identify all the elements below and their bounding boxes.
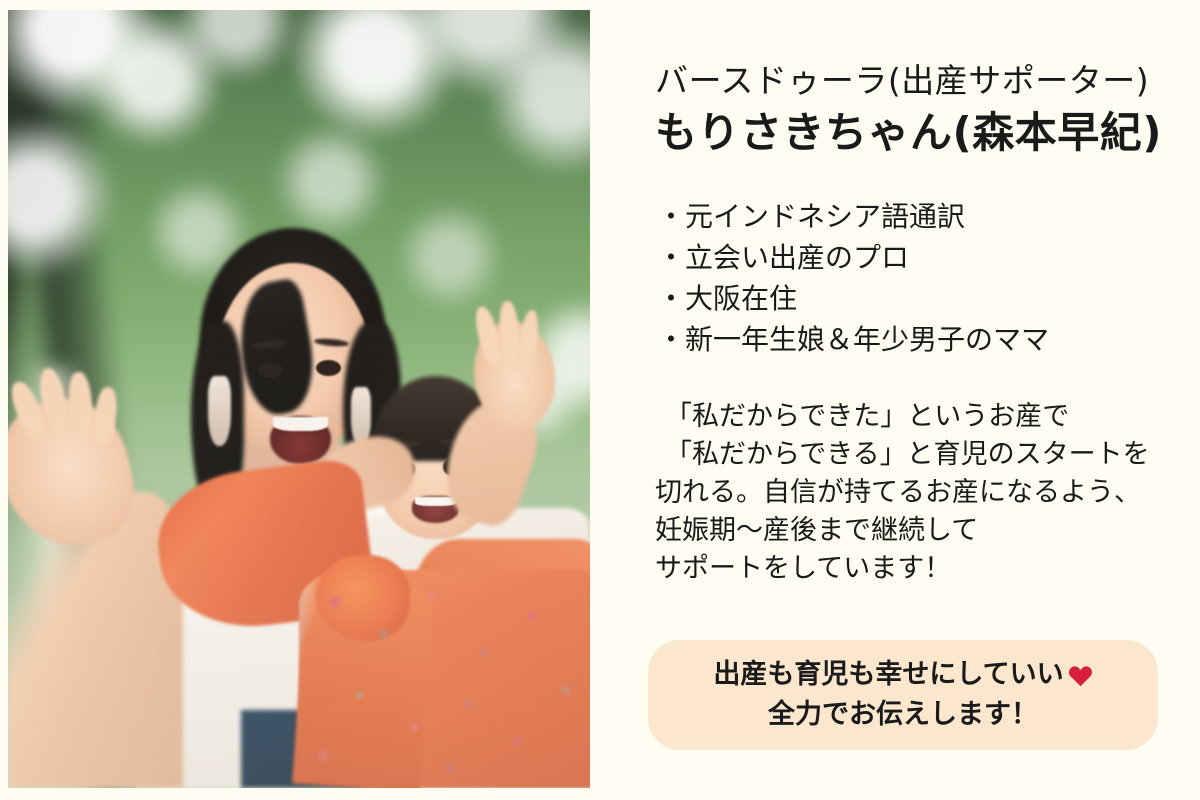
mother-eye-left xyxy=(258,362,283,378)
profile-headline: バースドゥーラ(出産サポーター) もりさきちゃん(森本早紀) xyxy=(655,58,1200,160)
profile-text-column: バースドゥーラ(出産サポーター) もりさきちゃん(森本早紀) ・元インドネシア語… xyxy=(655,0,1200,800)
intro-paragraph: 「私だからできた」というお産で 「私だからできる」と育児のスタートを 切れる。自… xyxy=(655,398,1200,588)
earring-left xyxy=(208,376,231,446)
callout-line-2: 全力でお伝えします！ xyxy=(768,696,1038,734)
paragraph-line: 切れる。自信が持てるお産になるよう、 xyxy=(655,474,1200,512)
credentials-list: ・元インドネシア語通訳 ・立会い出産のプロ ・大阪在住 ・新一年生娘＆年少男子の… xyxy=(657,196,1200,360)
paragraph-line: 「私だからできる」と育児のスタートを xyxy=(655,436,1200,474)
profile-photo xyxy=(8,10,590,788)
list-item: ・大阪在住 xyxy=(657,278,1200,319)
headline-name: もりさきちゃん(森本早紀) xyxy=(655,106,1200,160)
list-item: ・新一年生娘＆年少男子のママ xyxy=(657,319,1200,360)
headline-role: バースドゥーラ(出産サポーター) xyxy=(655,58,1200,104)
paragraph-line: 妊娠期〜産後まで継続して xyxy=(655,512,1200,550)
baby-teeth xyxy=(415,497,456,506)
mother-teeth xyxy=(273,417,328,431)
callout-line-1-text: 出産も育児も幸せにしていい xyxy=(713,656,1063,694)
sling-knot xyxy=(316,555,409,641)
heart-icon xyxy=(1068,664,1093,687)
highlight-callout: 出産も育児も幸せにしていい 全力でお伝えします！ xyxy=(648,640,1158,750)
callout-line-1: 出産も育児も幸せにしていい xyxy=(713,656,1092,694)
list-item: ・元インドネシア語通訳 xyxy=(657,196,1200,237)
paragraph-line: 「私だからできた」というお産で xyxy=(655,398,1200,436)
list-item: ・立会い出産のプロ xyxy=(657,237,1200,278)
paragraph-line: サポートをしています！ xyxy=(655,550,1200,588)
